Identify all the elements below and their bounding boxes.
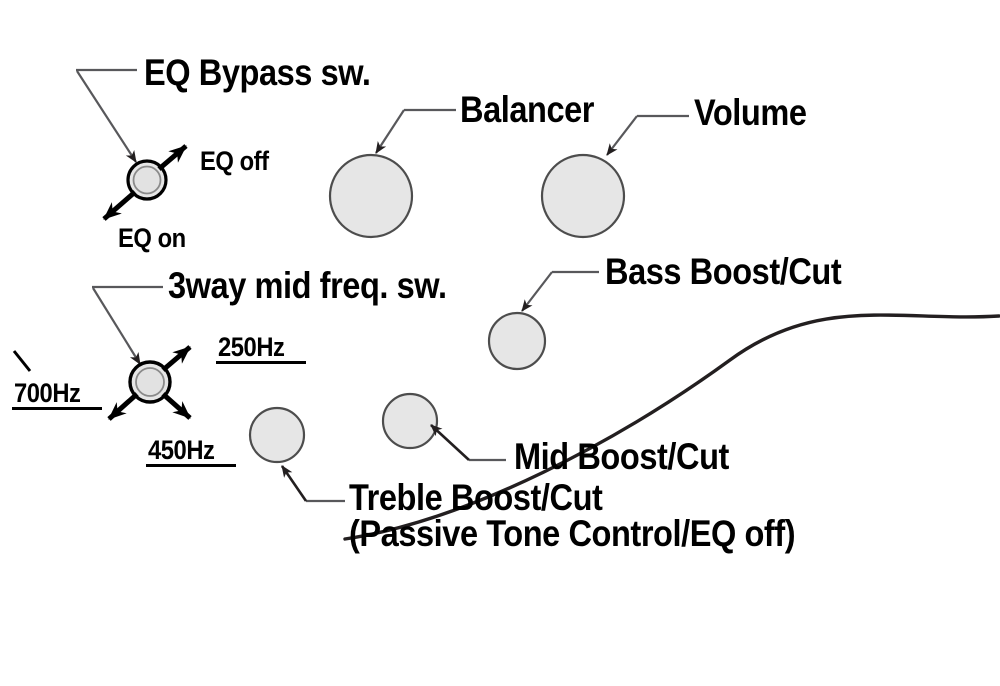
freq-700-arrow	[109, 394, 137, 419]
label-eq-bypass-sw: EQ Bypass sw.	[144, 54, 371, 91]
label-eq-on: EQ on	[118, 225, 186, 252]
label-treble-passive-note: (Passive Tone Control/EQ off)	[349, 515, 795, 552]
underline-freq-700hz	[12, 407, 102, 410]
treble-leader-line	[282, 466, 345, 501]
freq-250-arrow	[163, 347, 190, 370]
mid-leader-line	[431, 425, 506, 460]
label-eq-off: EQ off	[200, 148, 269, 175]
bass-boost-cut-knob[interactable]	[489, 313, 545, 369]
bass-leader-line	[522, 272, 599, 311]
label-balancer: Balancer	[460, 91, 594, 128]
underline-freq-450hz	[146, 464, 236, 467]
volume-leader-line	[607, 116, 689, 155]
eq-bypass-leader-line	[76, 70, 137, 162]
volume-knob[interactable]	[542, 155, 624, 237]
diagram-canvas: EQ Bypass sw. EQ off EQ on Balancer Volu…	[0, 0, 1000, 686]
label-freq-700hz: 700Hz	[14, 380, 80, 407]
treble-boost-cut-knob[interactable]	[250, 408, 304, 462]
eq-on-arrow	[104, 192, 135, 219]
freq-450-arrow	[163, 394, 190, 418]
balancer-leader-line	[376, 110, 456, 153]
underline-freq-250hz	[216, 361, 306, 364]
mid-boost-cut-knob[interactable]	[383, 394, 437, 448]
label-volume: Volume	[694, 94, 807, 131]
freq-700-arrow-stub	[14, 351, 30, 371]
eq-off-arrow	[159, 146, 186, 169]
label-freq-250hz: 250Hz	[218, 334, 284, 361]
label-bass-boost-cut: Bass Boost/Cut	[605, 253, 841, 290]
three-way-leader-line	[92, 287, 163, 364]
label-3way-mid-freq-sw: 3way mid freq. sw.	[168, 267, 447, 304]
label-mid-boost-cut: Mid Boost/Cut	[514, 438, 729, 475]
label-treble-boost-cut: Treble Boost/Cut	[349, 479, 602, 516]
label-freq-450hz: 450Hz	[148, 437, 214, 464]
balancer-knob[interactable]	[330, 155, 412, 237]
